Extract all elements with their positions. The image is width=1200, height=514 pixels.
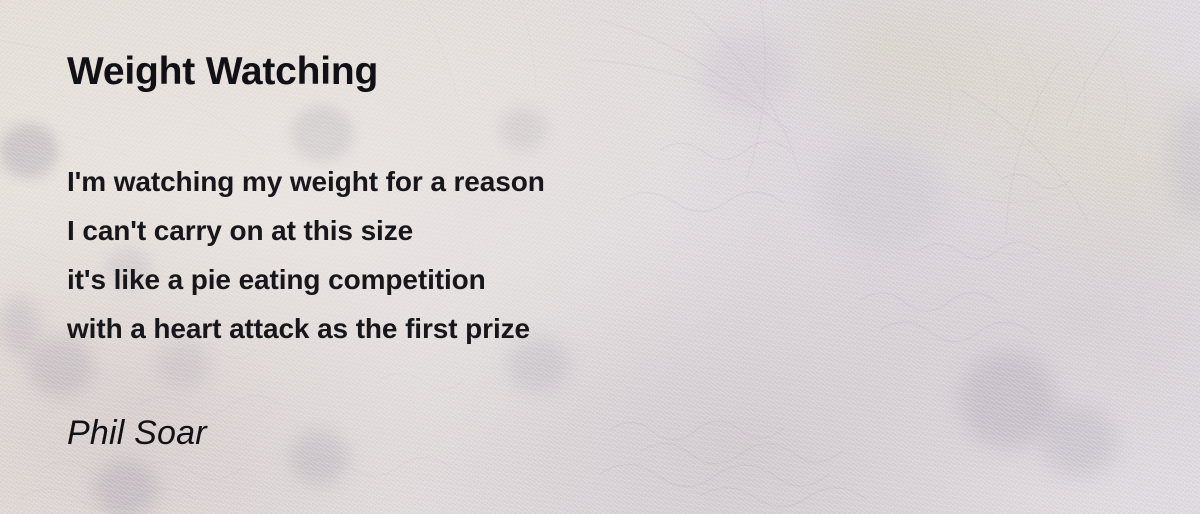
poem-card: Weight Watching I'm watching my weight f… [0,0,1200,514]
poem-line: I can't carry on at this size [67,206,545,255]
poem-line: with a heart attack as the first prize [67,304,545,353]
poem-body: I'm watching my weight for a reason I ca… [67,157,545,353]
page-title: Weight Watching [67,50,378,95]
poem-line: it's like a pie eating competition [67,255,545,304]
poem-content: Weight Watching I'm watching my weight f… [0,0,1200,514]
poem-author: Phil Soar [67,414,207,453]
poem-line: I'm watching my weight for a reason [67,157,545,206]
